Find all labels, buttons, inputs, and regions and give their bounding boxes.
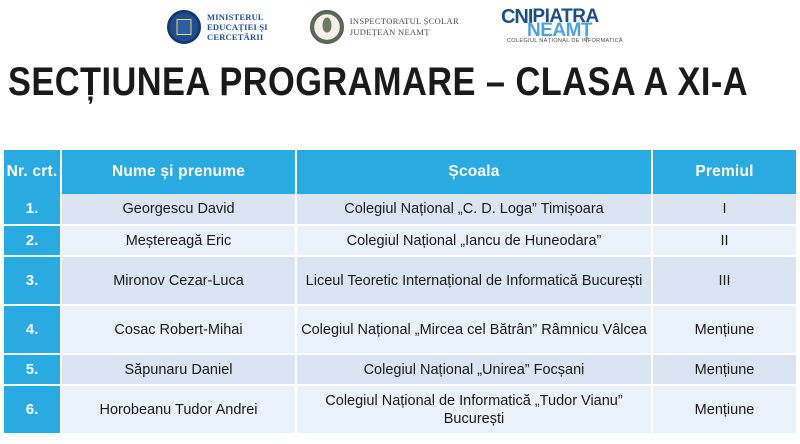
cell-nr: 3. bbox=[4, 256, 61, 305]
slide-page: MINISTERUL EDUCAȚIEI ȘI CERCETĂRII INSPE… bbox=[0, 0, 800, 444]
cell-nume: Horobeanu Tudor Andrei bbox=[61, 385, 296, 434]
cell-nr: 2. bbox=[4, 225, 61, 256]
cell-premiul: II bbox=[652, 225, 796, 256]
logo-line-3: CERCETĂRII bbox=[207, 32, 268, 42]
logo-line-2: JUDEȚEAN NEAMȚ bbox=[350, 27, 459, 38]
cell-premiul: Mențiune bbox=[652, 354, 796, 385]
logo-inspectoratul-scolar-label: INSPECTORATUL ȘCOLAR JUDEȚEAN NEAMȚ bbox=[350, 16, 459, 37]
table-header: Nr. crt. Nume și prenume Școala Premiul bbox=[4, 150, 796, 194]
results-table: Nr. crt. Nume și prenume Școala Premiul … bbox=[4, 150, 796, 435]
cni-subtitle: COLEGIUL NAȚIONAL DE INFORMATICĂ bbox=[507, 38, 623, 45]
logo-line-2: EDUCAȚIEI ȘI bbox=[207, 22, 268, 32]
logo-strip: MINISTERUL EDUCAȚIEI ȘI CERCETĂRII INSPE… bbox=[0, 4, 800, 50]
cell-premiul: I bbox=[652, 194, 796, 225]
cell-nr: 5. bbox=[4, 354, 61, 385]
cell-nume: Meștereagă Eric bbox=[61, 225, 296, 256]
cell-scoala: Colegiul Național „Unirea” Focșani bbox=[296, 354, 652, 385]
cell-nume: Georgescu David bbox=[61, 194, 296, 225]
logo-inspectoratul-scolar: INSPECTORATUL ȘCOLAR JUDEȚEAN NEAMȚ bbox=[310, 10, 459, 44]
cni-word-neamt: NEAMȚ bbox=[527, 23, 592, 38]
cell-scoala: Colegiul Național „Mircea cel Bătrân” Râ… bbox=[296, 305, 652, 354]
romania-government-crest-icon bbox=[167, 10, 201, 44]
table-row: 5. Săpunaru Daniel Colegiul Național „Un… bbox=[4, 354, 796, 385]
table-row: 3. Mironov Cezar-Luca Liceul Teoretic In… bbox=[4, 256, 796, 305]
table-row: 4. Cosac Robert-Mihai Colegiul Național … bbox=[4, 305, 796, 354]
cell-nume: Săpunaru Daniel bbox=[61, 354, 296, 385]
logo-cni-piatra-neamt: CNI PIATRA NEAMȚ COLEGIUL NAȚIONAL DE IN… bbox=[501, 7, 633, 47]
cell-scoala: Colegiul Național „C. D. Loga” Timișoara bbox=[296, 194, 652, 225]
column-header-premiul: Premiul bbox=[652, 150, 796, 194]
column-header-nume: Nume și prenume bbox=[61, 150, 296, 194]
logo-ministerul-educatiei: MINISTERUL EDUCAȚIEI ȘI CERCETĂRII bbox=[167, 10, 268, 44]
table-row: 6. Horobeanu Tudor Andrei Colegiul Națio… bbox=[4, 385, 796, 434]
cell-nume: Mironov Cezar-Luca bbox=[61, 256, 296, 305]
column-header-nr-crt: Nr. crt. bbox=[4, 150, 61, 194]
cell-scoala: Colegiul Național de Informatică „Tudor … bbox=[296, 385, 652, 434]
table-header-row: Nr. crt. Nume și prenume Școala Premiul bbox=[4, 150, 796, 194]
logo-line-1: MINISTERUL bbox=[207, 12, 268, 22]
cell-scoala: Liceul Teoretic Internațional de Informa… bbox=[296, 256, 652, 305]
cell-nr: 1. bbox=[4, 194, 61, 225]
inspectoratul-scolar-crest-icon bbox=[310, 10, 344, 44]
cell-premiul: III bbox=[652, 256, 796, 305]
table-row: 2. Meștereagă Eric Colegiul Național „Ia… bbox=[4, 225, 796, 256]
logo-line-1: INSPECTORATUL ȘCOLAR bbox=[350, 16, 459, 27]
cell-scoala: Colegiul Național „Iancu de Huneodara” bbox=[296, 225, 652, 256]
table-row: 1. Georgescu David Colegiul Național „C.… bbox=[4, 194, 796, 225]
cell-nume: Cosac Robert-Mihai bbox=[61, 305, 296, 354]
column-header-scoala: Școala bbox=[296, 150, 652, 194]
cell-nr: 6. bbox=[4, 385, 61, 434]
page-title: SECȚIUNEA PROGRAMARE – CLASA A XI-A bbox=[8, 60, 748, 104]
cell-premiul: Mențiune bbox=[652, 385, 796, 434]
cell-premiul: Mențiune bbox=[652, 305, 796, 354]
logo-ministerul-educatiei-label: MINISTERUL EDUCAȚIEI ȘI CERCETĂRII bbox=[207, 12, 268, 42]
table-body: 1. Georgescu David Colegiul Național „C.… bbox=[4, 194, 796, 434]
cell-nr: 4. bbox=[4, 305, 61, 354]
